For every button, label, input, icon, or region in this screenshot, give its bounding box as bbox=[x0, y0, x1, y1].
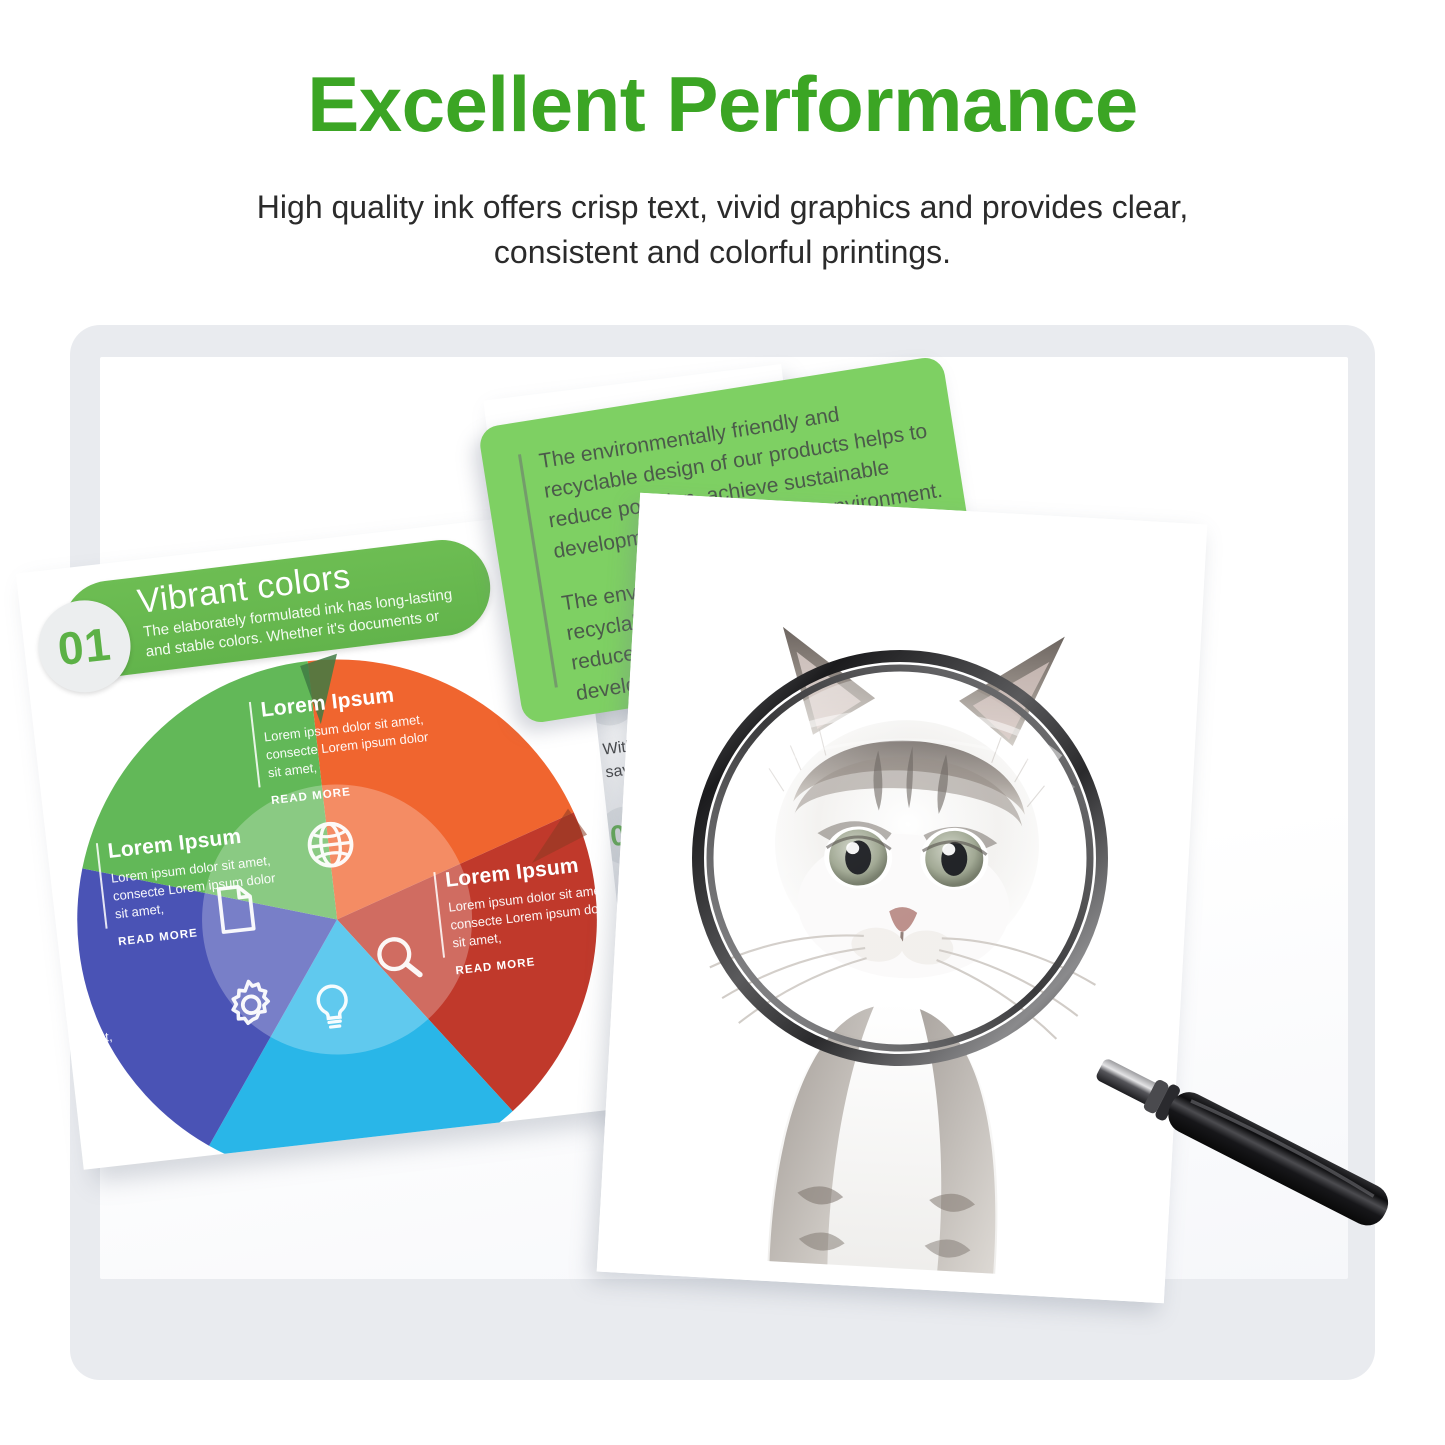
promo-banner: Excellent Performance High quality ink o… bbox=[0, 0, 1445, 1445]
page-title: Excellent Performance bbox=[0, 64, 1445, 146]
segment-body: Lorem ipsum dolor sit amet, consecte Lor… bbox=[110, 850, 290, 923]
segment-label-orange: Lorem Ipsum Lorem ipsum dolor sit amet, … bbox=[260, 679, 446, 807]
segment-label-indigo: m sit em t, bbox=[63, 994, 148, 1051]
segment-body: Lorem ipsum dolor sit amet, consecte Lor… bbox=[263, 709, 443, 782]
globe-icon bbox=[301, 815, 361, 875]
lightbulb-icon bbox=[304, 978, 362, 1036]
kitten-photo bbox=[597, 493, 1208, 1303]
segment-label-red: Lorem Ipsum Lorem ipsum dolor sit amet, … bbox=[444, 850, 620, 977]
kitten-photo-print bbox=[597, 493, 1208, 1303]
page-subtitle: High quality ink offers crisp text, vivi… bbox=[200, 185, 1245, 276]
segment-label-green: Lorem Ipsum Lorem ipsum dolor sit amet, … bbox=[107, 820, 293, 948]
gear-icon bbox=[221, 975, 281, 1035]
search-icon bbox=[369, 928, 429, 988]
segment-body: Lorem ipsum dolor sit amet, consecte Lor… bbox=[447, 880, 617, 952]
